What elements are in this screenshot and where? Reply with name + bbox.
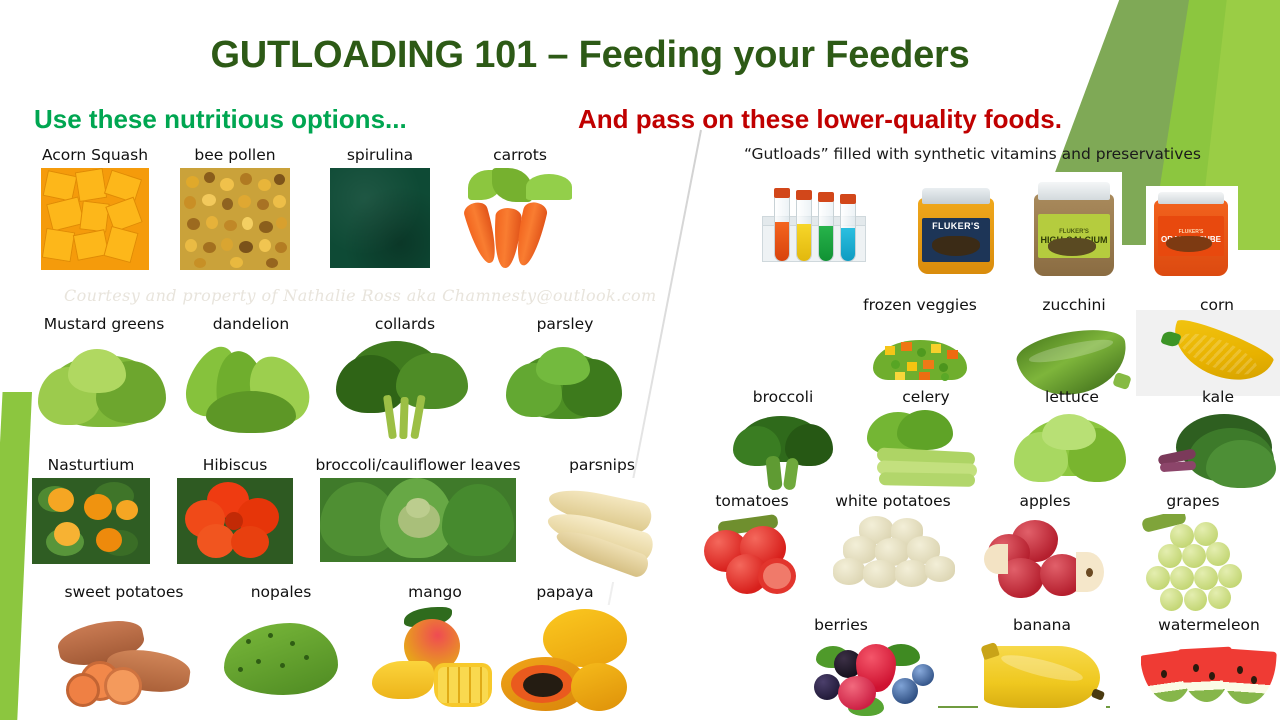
food-label: bee pollen (194, 148, 275, 164)
food-label: papaya (536, 585, 593, 601)
food-label: dandelion (213, 317, 289, 333)
food-label: tomatoes (715, 494, 788, 510)
food-label: lettuce (1045, 390, 1099, 406)
food-label: celery (902, 390, 949, 406)
flukers-high-calcium-jar-image: FLUKER'S HIGH-CALCIUM (1026, 172, 1122, 278)
food-label: watermeleon (1158, 618, 1260, 634)
food-label: Nasturtium (48, 458, 135, 474)
parsnips-image (540, 478, 664, 582)
food-label: mango (408, 585, 462, 601)
broccoli-image (727, 410, 839, 494)
grapes-image (1124, 514, 1262, 614)
watermark-credit: Courtesy and property of Nathalie Ross a… (64, 286, 657, 305)
nopales-image (216, 605, 346, 709)
food-label: nopales (251, 585, 312, 601)
frozen-veggies-image (861, 318, 979, 384)
food-label: white potatoes (835, 494, 950, 510)
mango-image (370, 605, 500, 715)
food-label: zucchini (1042, 298, 1105, 314)
apples-image (982, 514, 1108, 602)
food-label: apples (1019, 494, 1070, 510)
food-label: sweet potatoes (65, 585, 184, 601)
food-label: frozen veggies (863, 298, 977, 314)
collards-image (330, 337, 480, 443)
papaya-image (497, 605, 633, 717)
food-label: parsnips (569, 458, 635, 474)
food-label: parsley (537, 317, 594, 333)
slide-canvas: GUTLOADING 101 – Feeding your Feeders Us… (0, 0, 1280, 720)
corn-image (1160, 318, 1274, 398)
food-label: collards (375, 317, 435, 333)
food-label: kale (1202, 390, 1234, 406)
mustard-greens-image (34, 337, 174, 437)
broccoli-cauliflower-leaves-image (320, 478, 516, 562)
celery-image (863, 410, 989, 494)
food-label: Hibiscus (203, 458, 268, 474)
bee-pollen-image (180, 168, 290, 270)
food-label: broccoli (753, 390, 814, 406)
carrots-image (440, 168, 600, 272)
food-label: banana (1013, 618, 1071, 634)
white-potatoes-image (829, 514, 957, 594)
acorn-squash-image (41, 168, 149, 270)
food-label: spirulina (347, 148, 413, 164)
food-label: grapes (1166, 494, 1219, 510)
nasturtium-image (32, 478, 150, 564)
gutload-note: “Gutloads” filled with synthetic vitamin… (744, 145, 1201, 163)
sweet-potatoes-image (54, 605, 194, 713)
tomatoes-image (696, 514, 808, 600)
food-label: corn (1200, 298, 1234, 314)
food-label: carrots (493, 148, 547, 164)
left-column-heading: Use these nutritious options... (34, 104, 407, 135)
lettuce-image (1012, 410, 1132, 492)
watermelon-image (1141, 638, 1277, 718)
flukers-orange-cube-jar-image: FLUKER'S ORANGE CUBE (1146, 186, 1238, 280)
flukers-cricket-jar-image: FLUKER'S (908, 178, 1004, 278)
page-title: GUTLOADING 101 – Feeding your Feeders (0, 34, 1180, 77)
banana-image (978, 638, 1106, 720)
food-label: broccoli/cauliflower leaves (315, 458, 520, 474)
berries-image (808, 638, 938, 720)
dandelion-image (176, 337, 326, 441)
spirulina-image (330, 168, 430, 268)
food-label: Mustard greens (44, 317, 165, 333)
green-wedge-left (0, 392, 32, 720)
kale-image (1158, 410, 1278, 496)
test-tubes-image (756, 176, 874, 276)
food-label: berries (814, 618, 868, 634)
food-label: Acorn Squash (42, 148, 148, 164)
right-column-heading: And pass on these lower-quality foods. (578, 104, 1062, 135)
hibiscus-image (177, 478, 293, 564)
parsley-image (500, 337, 630, 437)
